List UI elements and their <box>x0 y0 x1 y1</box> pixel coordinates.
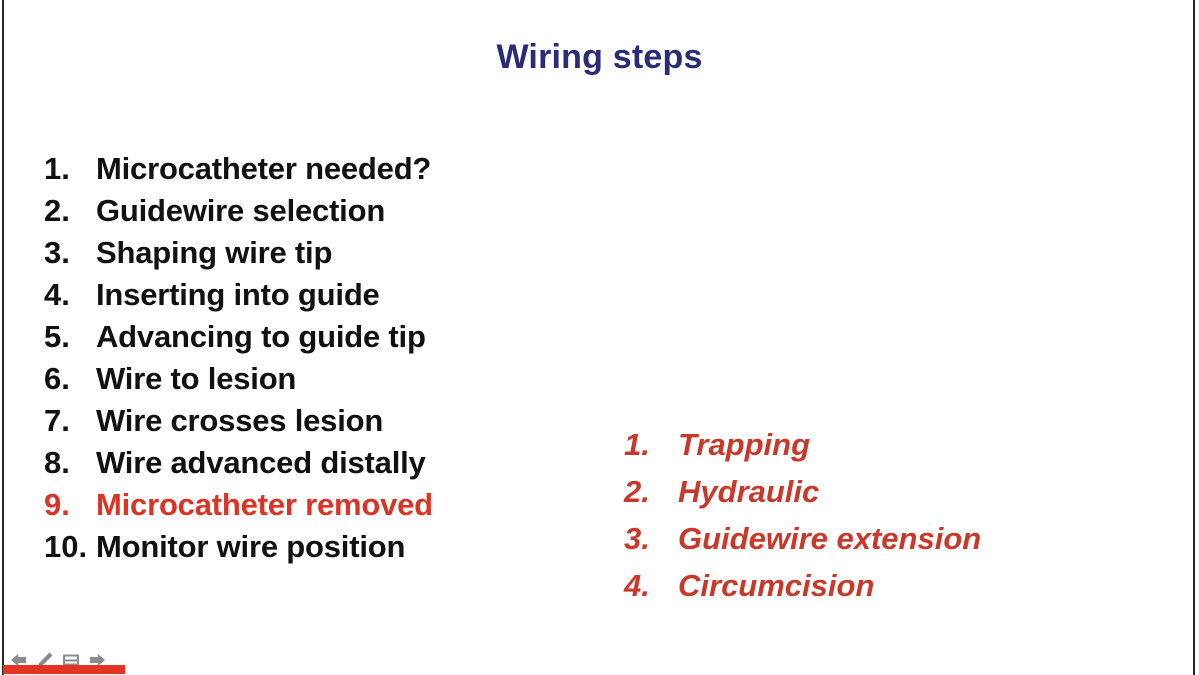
list-item-label: Circumcision <box>678 562 874 609</box>
list-item-label: Hydraulic <box>678 468 819 515</box>
list-item-label: Inserting into guide <box>96 274 380 316</box>
list-item-label: Wire crosses lesion <box>96 400 383 442</box>
list-item-label: Monitor wire position <box>96 526 405 568</box>
list-item-number: 6. <box>44 358 96 400</box>
list-item-number: 7. <box>44 400 96 442</box>
list-item: 2. Guidewire selection <box>44 190 433 232</box>
list-item-number: 10. <box>44 526 96 568</box>
list-item: 5. Advancing to guide tip <box>44 316 433 358</box>
list-item-number: 4. <box>624 562 678 609</box>
list-item-number: 8. <box>44 442 96 484</box>
slide-right-border <box>1193 0 1195 675</box>
list-item-label: Wire advanced distally <box>96 442 426 484</box>
list-item-label: Guidewire extension <box>678 515 981 562</box>
list-item-number: 4. <box>44 274 96 316</box>
list-item: 1. Trapping <box>624 421 981 468</box>
page-title: Wiring steps <box>0 38 1199 77</box>
list-item-number: 1. <box>44 148 96 190</box>
list-item: 8. Wire advanced distally <box>44 442 433 484</box>
list-item-label: Microcatheter needed? <box>96 148 431 190</box>
list-item: 2. Hydraulic <box>624 468 981 515</box>
progress-bar-track[interactable] <box>3 665 1193 674</box>
list-item-label: Shaping wire tip <box>96 232 332 274</box>
presentation-slide: Wiring steps 1. Microcatheter needed? 2.… <box>0 0 1199 675</box>
list-item-highlighted: 9. Microcatheter removed <box>44 484 433 526</box>
list-item-number: 9. <box>44 484 96 526</box>
wiring-steps-list: 1. Microcatheter needed? 2. Guidewire se… <box>44 148 433 568</box>
progress-bar-fill[interactable] <box>3 665 125 674</box>
techniques-list: 1. Trapping 2. Hydraulic 3. Guidewire ex… <box>624 421 981 609</box>
list-item-number: 3. <box>44 232 96 274</box>
list-item-number: 2. <box>624 468 678 515</box>
list-item-label: Microcatheter removed <box>96 484 433 526</box>
list-item: 4. Inserting into guide <box>44 274 433 316</box>
list-item-label: Guidewire selection <box>96 190 385 232</box>
list-item-number: 1. <box>624 421 678 468</box>
list-item-label: Wire to lesion <box>96 358 296 400</box>
list-item-number: 5. <box>44 316 96 358</box>
list-item-number: 3. <box>624 515 678 562</box>
list-item-number: 2. <box>44 190 96 232</box>
list-item: 6. Wire to lesion <box>44 358 433 400</box>
list-item-label: Trapping <box>678 421 810 468</box>
list-item-label: Advancing to guide tip <box>96 316 426 358</box>
list-item: 10. Monitor wire position <box>44 526 433 568</box>
list-item: 7. Wire crosses lesion <box>44 400 433 442</box>
list-item: 3. Guidewire extension <box>624 515 981 562</box>
list-item: 4. Circumcision <box>624 562 981 609</box>
list-item: 3. Shaping wire tip <box>44 232 433 274</box>
slide-left-border <box>2 0 4 675</box>
list-item: 1. Microcatheter needed? <box>44 148 433 190</box>
